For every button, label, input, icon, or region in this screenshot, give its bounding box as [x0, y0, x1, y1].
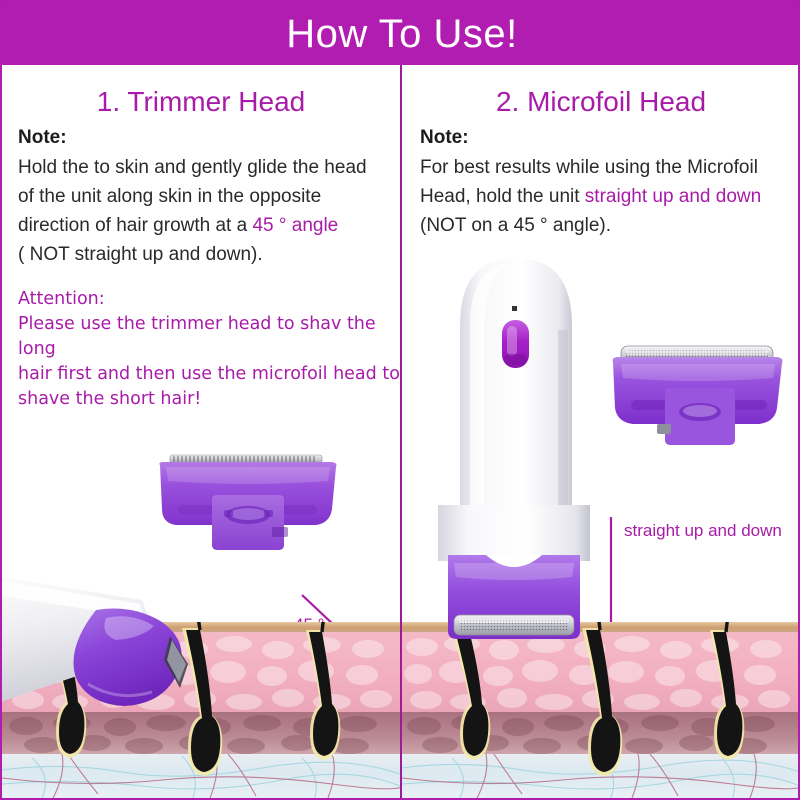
microfoil-note-line-1: For best results while using the Microfo…	[420, 153, 758, 182]
device-body-icon	[2, 552, 222, 722]
straight-highlight: straight up and down	[585, 186, 761, 207]
page-title: How To Use!	[286, 14, 518, 54]
how-to-use-poster: How To Use! 1. Trimmer Head Note: Hold t…	[0, 0, 800, 800]
attention-line-1: Please use the trimmer head to shav the …	[18, 312, 400, 362]
panel-title-microfoil: 2. Microfoil Head	[402, 87, 800, 117]
note-line-3: direction of hair growth at a 45 ° angle	[18, 211, 338, 240]
attention-block: Attention: Please use the trimmer head t…	[18, 287, 400, 412]
note-line-2: of the unit along skin in the opposite	[18, 182, 321, 211]
panel-microfoil-head: 2. Microfoil Head Note: For best results…	[402, 65, 800, 800]
note-label-left: Note:	[18, 127, 67, 149]
angle-highlight: 45 ° angle	[252, 215, 338, 236]
arrow-label: straight up and down	[624, 521, 782, 541]
trimmer-head-icon	[150, 449, 345, 559]
microfoil-note-line-2-plain: Head, hold the unit	[420, 186, 585, 207]
note-label-right: Note:	[420, 127, 469, 149]
microfoil-note-line-2: Head, hold the unit straight up and down	[420, 182, 761, 211]
panel-title-trimmer: 1. Trimmer Head	[2, 87, 400, 117]
attention-line-2: hair first and then use the microfoil he…	[18, 362, 400, 387]
microfoil-note-line-3: (NOT on a 45 ° angle).	[420, 211, 611, 240]
panel-trimmer-head: 1. Trimmer Head Note: Hold the to skin a…	[2, 65, 400, 800]
note-line-4: ( NOT straight up and down).	[18, 240, 263, 269]
microfoil-head-icon	[607, 340, 787, 450]
attention-label: Attention:	[18, 287, 400, 312]
attention-line-3: shave the short hair!	[18, 387, 400, 412]
note-line-3-plain: direction of hair growth at a	[18, 215, 252, 236]
note-line-1: Hold the to skin and gently glide the he…	[18, 153, 367, 182]
header-banner: How To Use!	[2, 2, 800, 65]
device-head-on-skin-icon	[424, 505, 614, 685]
